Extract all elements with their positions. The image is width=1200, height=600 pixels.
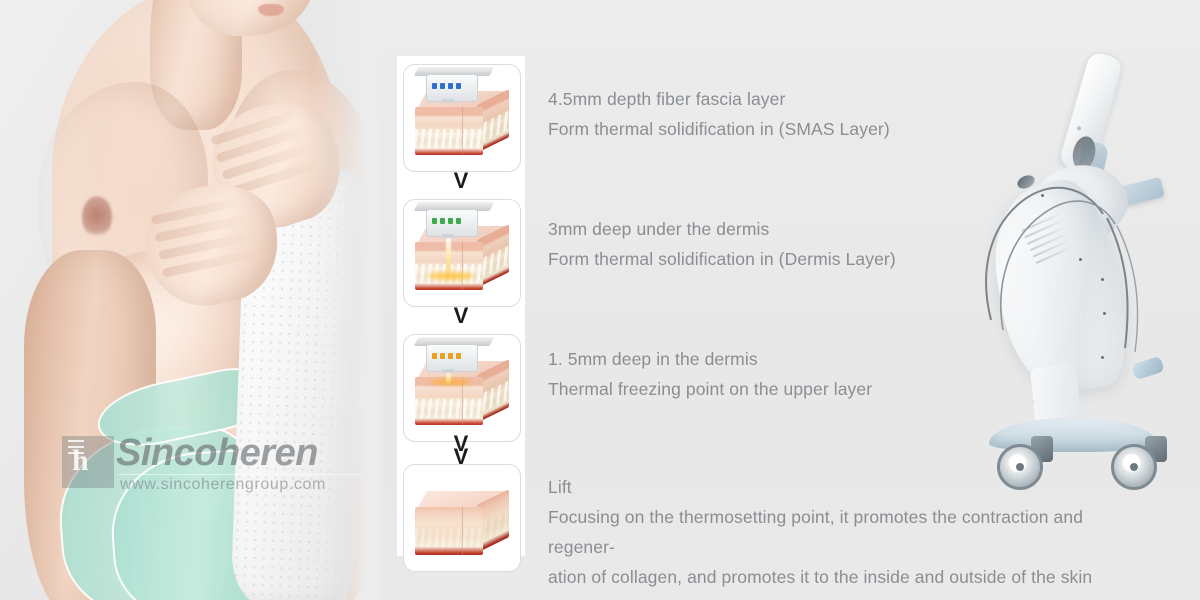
description-block-2: 3mm deep under the dermis Form thermal s… <box>548 214 896 274</box>
skin-cross-section-lifted <box>415 491 509 557</box>
caster-wheel-left <box>997 444 1043 490</box>
description-line: Thermal freezing point on the upper laye… <box>548 374 872 404</box>
description-line: Focusing on the thermosetting point, it … <box>548 502 1138 562</box>
description-line: 1. 5mm deep in the dermis <box>548 344 872 374</box>
handpiece-icon-blue <box>422 67 484 101</box>
arrow-1: V <box>397 174 525 187</box>
diagram-step-1 <box>403 64 521 172</box>
brand-url: www.sincoherengroup.com <box>120 476 326 494</box>
description-block-3: 1. 5mm deep in the dermis Thermal freezi… <box>548 344 872 404</box>
chevron-down-icon-2: V <box>397 450 525 463</box>
handpiece-icon-green <box>422 202 484 236</box>
photo-fade-edge <box>312 0 380 600</box>
watermark: h Sincoheren www.sincoherengroup.com <box>62 434 362 500</box>
description-line: ation of collagen, and promotes it to th… <box>548 562 1138 592</box>
diagram-step-3 <box>403 334 521 442</box>
arrow-3: V V <box>397 437 525 463</box>
description-block-1: 4.5mm depth fiber fascia layer Form ther… <box>548 84 890 144</box>
description-line: Form thermal solidification in (SMAS Lay… <box>548 114 890 144</box>
brand-logo-letter: h <box>72 444 89 478</box>
model-lip <box>258 4 284 16</box>
promo-banner: h Sincoheren www.sincoherengroup.com V <box>0 0 1200 600</box>
chevron-down-icon: V <box>397 309 525 322</box>
brand-logo-icon: h <box>62 436 114 488</box>
product-machine <box>975 30 1200 510</box>
model-photo <box>0 0 380 600</box>
model-bust-shadow <box>82 196 112 238</box>
diagram-step-2 <box>403 199 521 307</box>
chevron-down-icon: V <box>397 174 525 187</box>
description-line: Form thermal solidification in (Dermis L… <box>548 244 896 274</box>
handpiece-icon-amber <box>422 337 484 371</box>
diagram-step-4 <box>403 464 521 572</box>
diagram-column: V V V <box>397 56 525 556</box>
description-line: 3mm deep under the dermis <box>548 214 896 244</box>
caster-wheel-right <box>1111 444 1157 490</box>
arrow-2: V <box>397 309 525 322</box>
thermal-point-glow <box>428 272 474 280</box>
machine-handpiece-holder <box>1131 356 1164 380</box>
ultrasound-beam <box>446 238 451 278</box>
description-line: 4.5mm depth fiber fascia layer <box>548 84 890 114</box>
brand-name: Sincoheren <box>116 432 318 475</box>
